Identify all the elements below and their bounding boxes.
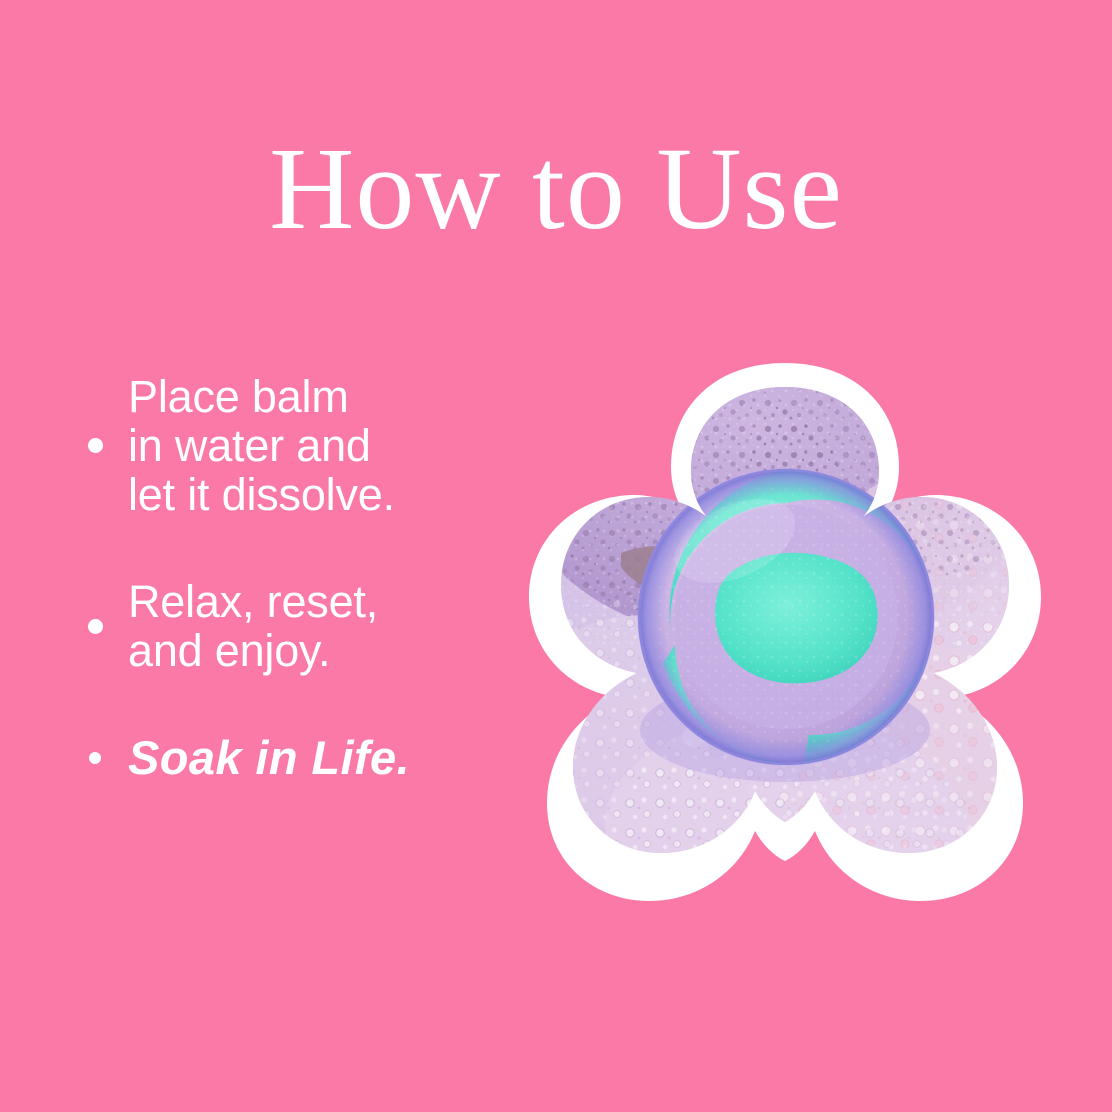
list-item-line: Soak in Life. bbox=[128, 733, 410, 782]
list-item-line: let it dissolve. bbox=[128, 470, 395, 519]
bullet-dot-icon bbox=[62, 619, 128, 634]
bullet-dot-icon bbox=[62, 752, 128, 764]
list-item-text: Relax, reset, and enjoy. bbox=[128, 577, 378, 675]
list-item-line: Relax, reset, bbox=[128, 577, 378, 626]
list-item-line: Place balm bbox=[128, 372, 395, 421]
list-item: Soak in Life. bbox=[62, 733, 492, 782]
list-item-text: Place balm in water and let it dissolve. bbox=[128, 372, 395, 519]
list-item: Relax, reset, and enjoy. bbox=[62, 577, 492, 675]
list-item-line: in water and bbox=[128, 421, 395, 470]
list-item-text: Soak in Life. bbox=[128, 733, 410, 782]
list-item-line: and enjoy. bbox=[128, 626, 378, 675]
flower-framed-bath-bomb-photo bbox=[503, 345, 1067, 909]
list-item: Place balm in water and let it dissolve. bbox=[62, 372, 492, 519]
promo-graphic: How to Use Place balm in water and let i… bbox=[0, 0, 1112, 1112]
flower-photo-svg bbox=[503, 345, 1067, 909]
page-title: How to Use bbox=[0, 130, 1112, 248]
bullet-dot-icon bbox=[62, 438, 128, 453]
bath-bomb bbox=[638, 469, 934, 765]
how-to-use-steps-list: Place balm in water and let it dissolve.… bbox=[62, 372, 492, 782]
